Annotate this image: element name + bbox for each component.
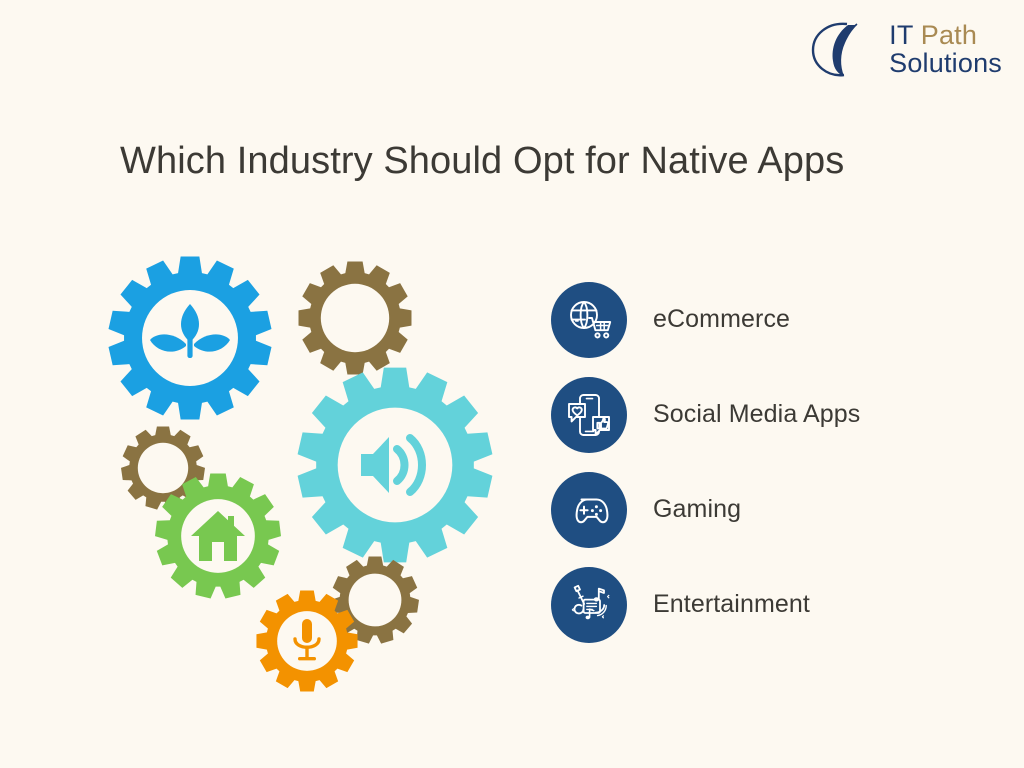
list-item-label: Entertainment (653, 590, 810, 619)
page-title: Which Industry Should Opt for Native App… (120, 140, 844, 183)
brand-name-it: IT (889, 20, 913, 50)
guitar-music-notes-icon (551, 567, 627, 643)
brand-logo-text: IT Path Solutions (889, 21, 1002, 77)
gear-speaker (298, 368, 493, 563)
list-item[interactable]: Social Media Apps (551, 367, 971, 462)
list-item-label: eCommerce (653, 305, 790, 334)
list-item-label: Gaming (653, 495, 741, 524)
brand-name-solutions: Solutions (889, 49, 1002, 77)
game-controller-icon (551, 472, 627, 548)
brand-name-path: Path (921, 20, 977, 50)
gears-illustration (80, 225, 550, 715)
itpath-arc-logo-icon (807, 18, 879, 80)
list-item[interactable]: Gaming (551, 462, 971, 557)
list-item[interactable]: eCommerce (551, 272, 971, 367)
list-item[interactable]: Entertainment (551, 557, 971, 652)
gear-brown-top (299, 262, 412, 375)
brand-logo[interactable]: IT Path Solutions (807, 18, 1002, 80)
list-item-label: Social Media Apps (653, 400, 860, 429)
industry-list: eCommerce Social Media Apps (551, 272, 971, 652)
globe-shopping-cart-icon (551, 282, 627, 358)
phone-heart-thumbsup-icon (551, 377, 627, 453)
